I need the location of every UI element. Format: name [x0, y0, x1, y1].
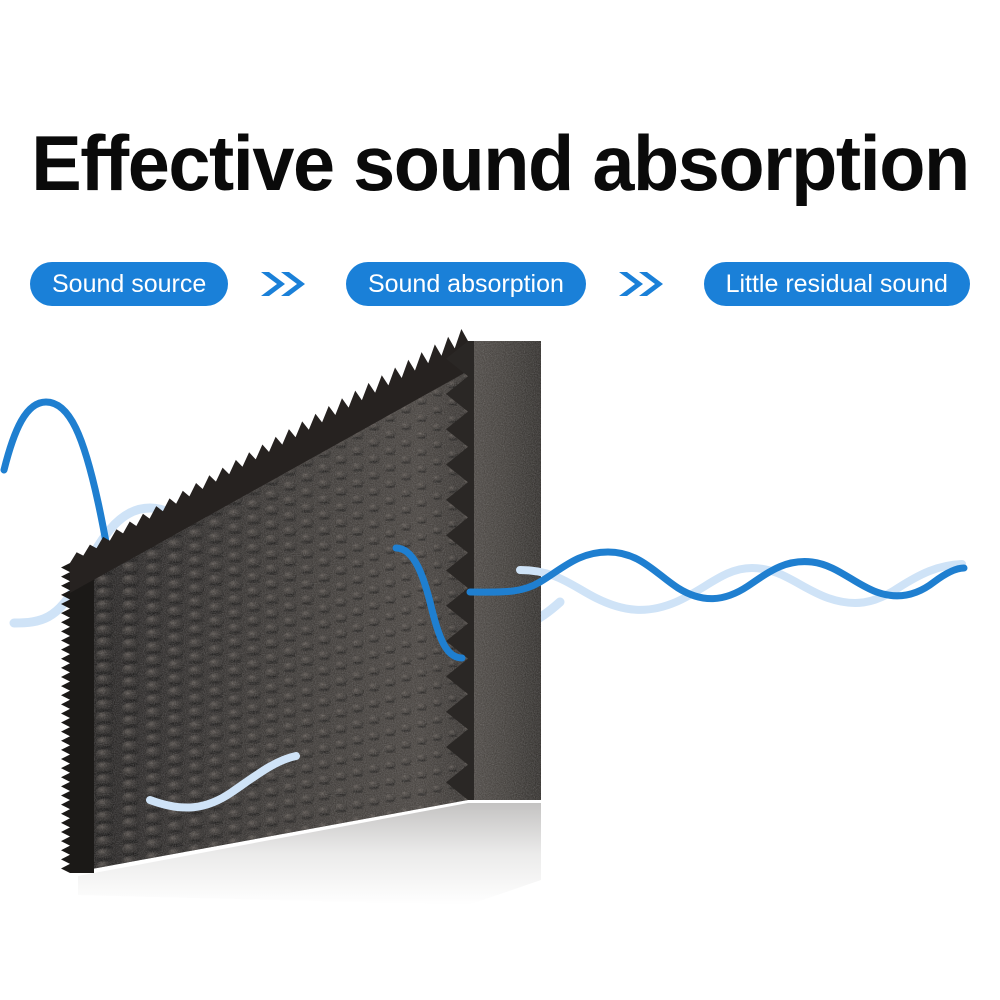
chevron-arrow-2 — [617, 269, 673, 299]
badge-sound-absorption[interactable]: Sound absorption — [346, 262, 586, 306]
sound-absorption-diagram — [0, 320, 1000, 920]
chevron-arrow-1 — [259, 269, 315, 299]
badge-sound-source[interactable]: Sound source — [30, 262, 228, 306]
page-title: Effective sound absorption — [15, 118, 985, 208]
badge-little-residual-sound[interactable]: Little residual sound — [704, 262, 970, 306]
acoustic-foam-panel — [61, 329, 542, 905]
illustration-page: Effective sound absorption Sound source … — [0, 0, 1000, 1000]
panel-left-serrated-edge — [61, 563, 94, 873]
process-flow-badges: Sound source Sound absorption Little res… — [30, 260, 970, 308]
